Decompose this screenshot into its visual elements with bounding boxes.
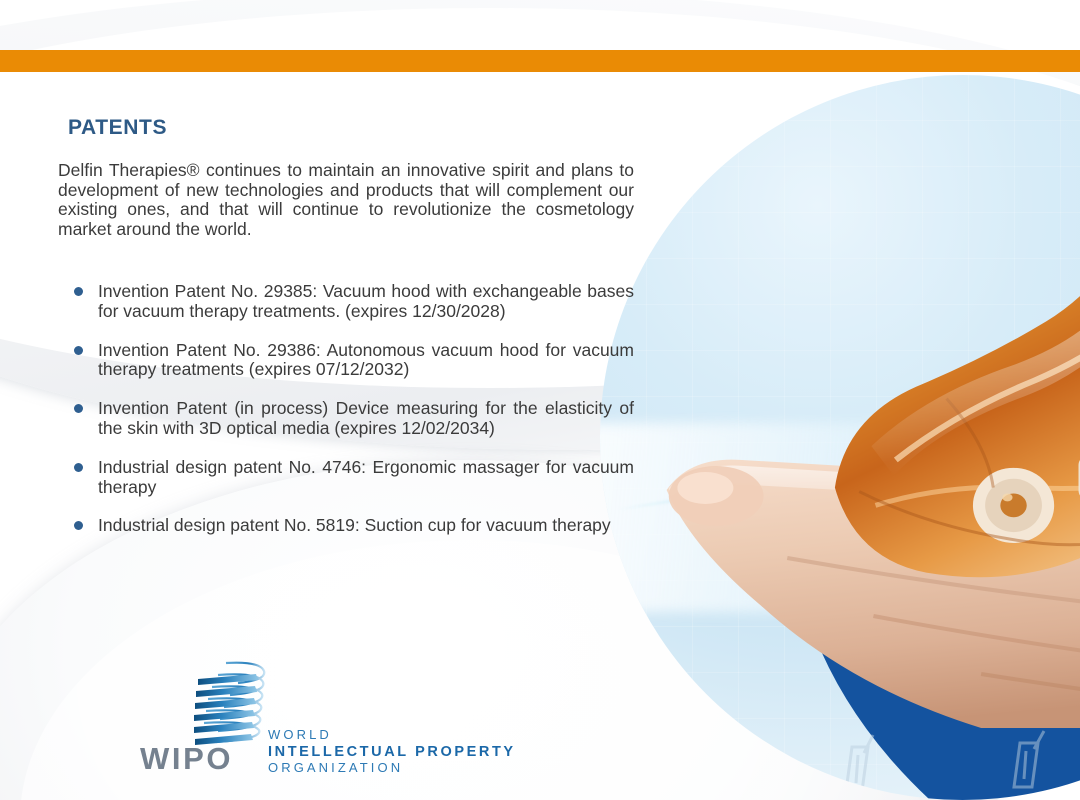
wipo-tagline: WORLD INTELLECTUAL PROPERTY ORGANIZATION xyxy=(268,727,516,777)
list-item-label: Industrial design patent No. 5819: Sucti… xyxy=(98,515,611,535)
bullet-dot-icon xyxy=(74,346,83,355)
wipo-logo: WIPO WORLD INTELLECTUAL PROPERTY ORGANIZ… xyxy=(140,655,570,780)
wipo-wordmark: WIPO xyxy=(140,741,233,777)
list-item-label: Invention Patent No. 29386: Autonomous v… xyxy=(98,340,634,380)
wipo-tagline-line-1: WORLD xyxy=(268,727,516,744)
bullet-dot-icon xyxy=(74,404,83,413)
bullet-dot-icon xyxy=(74,463,83,472)
bullet-dot-icon xyxy=(74,287,83,296)
product-photo-circle xyxy=(600,75,1080,800)
wipo-tagline-line-3: ORGANIZATION xyxy=(268,760,516,777)
list-item: Industrial design patent No. 5819: Sucti… xyxy=(58,516,634,536)
bullet-dot-icon xyxy=(74,521,83,530)
wipo-tagline-line-2: INTELLECTUAL PROPERTY xyxy=(268,744,516,761)
list-item: Invention Patent No. 29385: Vacuum hood … xyxy=(58,282,634,322)
intro-paragraph: Delfin Therapies® continues to maintain … xyxy=(58,161,634,239)
list-item-label: Invention Patent No. 29385: Vacuum hood … xyxy=(98,281,634,321)
list-item-label: Invention Patent (in process) Device mea… xyxy=(98,398,634,438)
page-title: PATENTS xyxy=(68,116,167,140)
slide-canvas: PATENTS Delfin Therapies® continues to m… xyxy=(0,0,1080,800)
list-item-label: Industrial design patent No. 4746: Ergon… xyxy=(98,457,634,497)
glass-vials-illustration xyxy=(600,75,1080,800)
list-item: Invention Patent No. 29386: Autonomous v… xyxy=(58,341,634,381)
list-item: Invention Patent (in process) Device mea… xyxy=(58,399,634,439)
list-item: Industrial design patent No. 4746: Ergon… xyxy=(58,458,634,498)
patent-list: Invention Patent No. 29385: Vacuum hood … xyxy=(58,282,634,536)
